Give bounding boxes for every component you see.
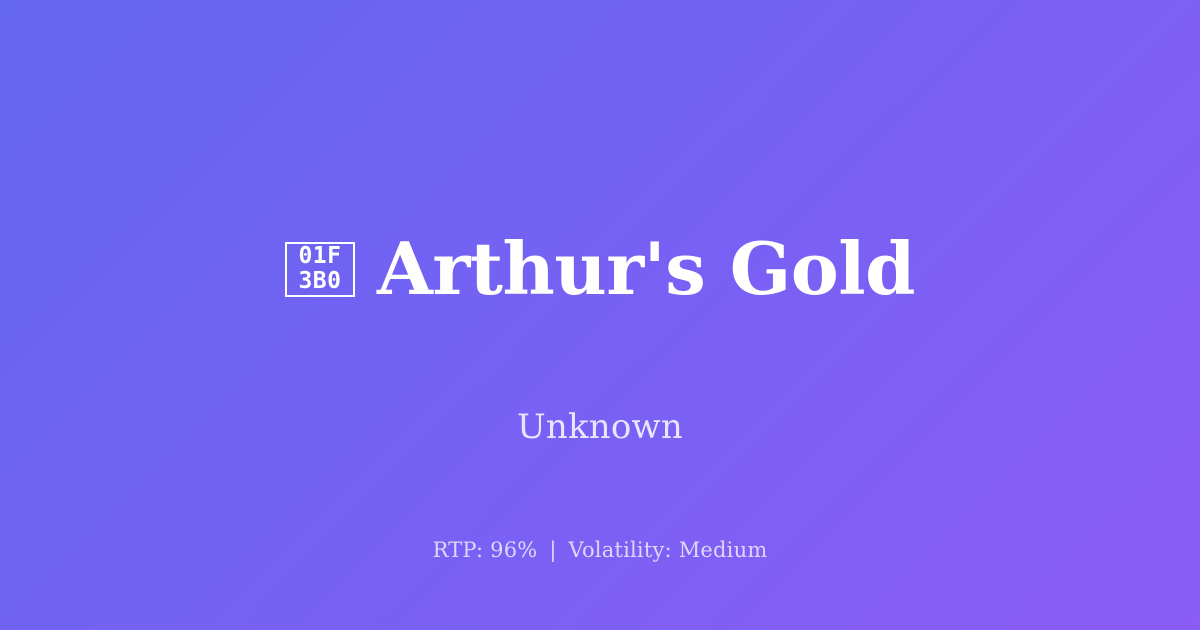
volatility-label: Volatility: (569, 538, 672, 562)
meta-separator: | (544, 538, 561, 562)
game-provider-subtitle: Unknown (517, 407, 683, 447)
game-stats-line: RTP: 96% | Volatility: Medium (0, 538, 1200, 562)
tofu-hex-bottom: 3B0 (298, 269, 341, 294)
title-row: 01F 3B0 Arthur's Gold (285, 183, 915, 355)
rtp-label: RTP: (433, 538, 484, 562)
slot-machine-emoji-icon: 01F 3B0 (285, 242, 355, 297)
tofu-hex-top: 01F (298, 244, 341, 269)
rtp-value: 96% (490, 538, 537, 562)
volatility-value: Medium (679, 538, 768, 562)
page-title: Arthur's Gold (377, 231, 915, 307)
game-og-card: 01F 3B0 Arthur's Gold Unknown RTP: 96% |… (0, 0, 1200, 630)
